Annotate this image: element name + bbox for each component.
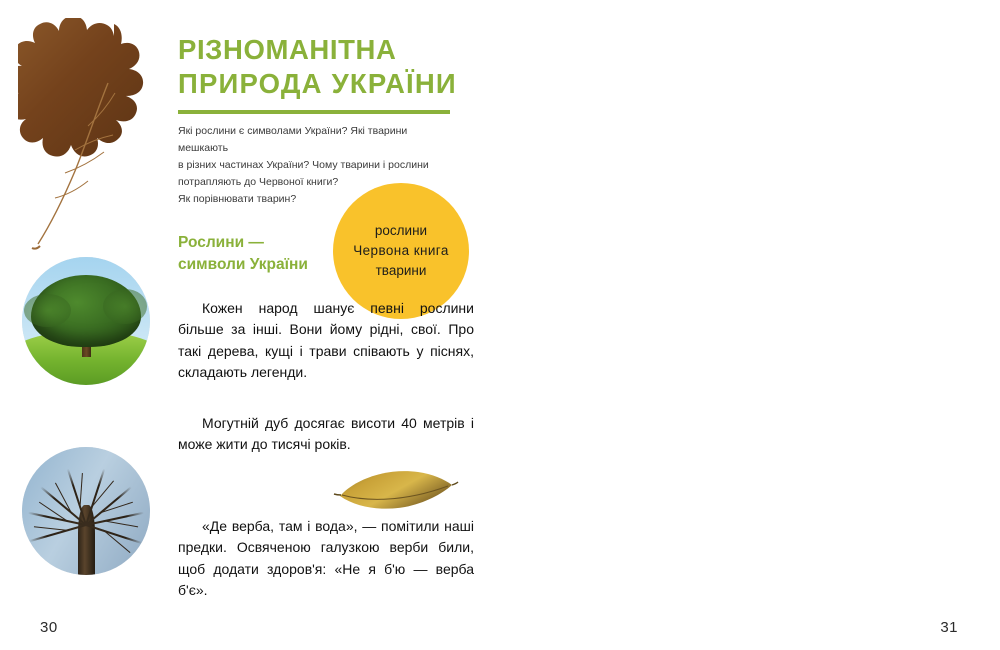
keyword-red-book: Червона книга [353, 241, 449, 261]
right-page: Калина — символ любові до України. Волош… [500, 0, 1000, 650]
page-title-line-2: природа України [178, 67, 478, 101]
page-number-left: 30 [40, 619, 58, 636]
oak-leaf-illustration [18, 18, 170, 250]
page-title: Різноманітна природа України [178, 33, 478, 100]
page-number-right: 31 [940, 619, 958, 636]
section-subheading: Рослини — символи України [178, 232, 348, 276]
body-text-block: Могутній дуб досягає висоти 40 метрів і … [178, 413, 474, 456]
paragraph: Могутній дуб досягає висоти 40 метрів і … [178, 413, 474, 456]
subheading-line-1: Рослини — [178, 232, 348, 254]
keyword-animals: тварини [376, 261, 427, 281]
subheading-line-2: символи України [178, 254, 348, 276]
paragraph: «Де верба, там і вода», — помітили наші … [178, 516, 474, 601]
intro-line: в різних частинах України? Чому тварини … [178, 157, 458, 174]
body-text-block: Кожен народ шанує певні рослини більше з… [178, 298, 474, 383]
paragraph: Кожен народ шанує певні рослини більше з… [178, 298, 474, 383]
willow-tree-photo [22, 447, 150, 575]
title-divider [178, 110, 450, 114]
book-spread: Різноманітна природа України Які рослини… [0, 0, 1000, 650]
willow-leaf-illustration [332, 462, 460, 518]
intro-line: Які рослини є символами України? Які тва… [178, 123, 458, 157]
left-page: Різноманітна природа України Які рослини… [0, 0, 500, 650]
oak-tree-photo [22, 257, 150, 385]
keyword-plants: рослини [375, 221, 427, 241]
page-title-line-1: Різноманітна [178, 33, 478, 67]
body-text-block: «Де верба, там і вода», — помітили наші … [178, 516, 474, 601]
